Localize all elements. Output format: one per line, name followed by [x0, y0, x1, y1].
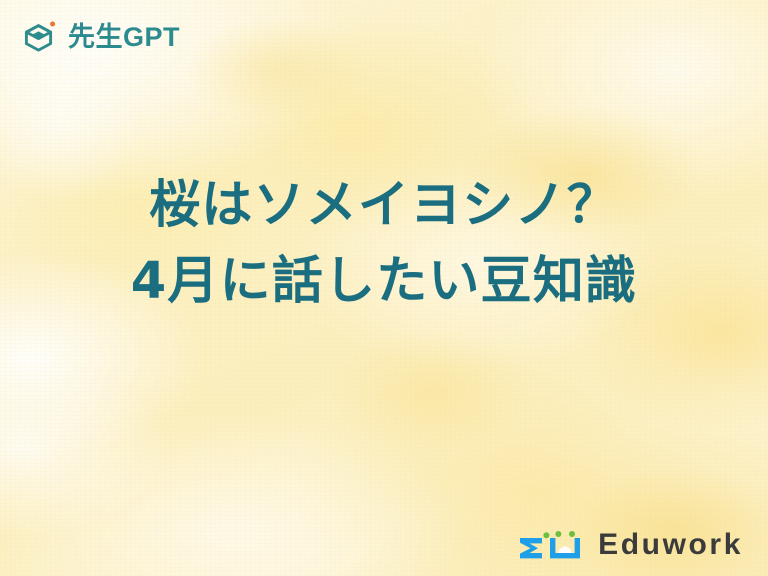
brand-lockup[interactable]: 先生GPT [19, 17, 180, 57]
eduwork-ew-monogram-icon [518, 529, 584, 560]
headline-line-1: 桜はソメイヨシノ？ [0, 168, 768, 244]
orange-dot-icon [50, 22, 55, 27]
slide-canvas: 先生GPT 桜はソメイヨシノ？ 4月に話したい豆知識 Eduwork [0, 0, 768, 576]
headline-line-2: 4月に話したい豆知識 [0, 244, 768, 320]
eduwork-wordmark: Eduwork [598, 530, 743, 560]
graduation-cap-hexagon-icon [19, 17, 59, 57]
eduwork-logo-lockup[interactable]: Eduwork [518, 529, 743, 560]
brand-name: 先生GPT [68, 24, 180, 51]
headline-block: 桜はソメイヨシノ？ 4月に話したい豆知識 [0, 168, 768, 320]
